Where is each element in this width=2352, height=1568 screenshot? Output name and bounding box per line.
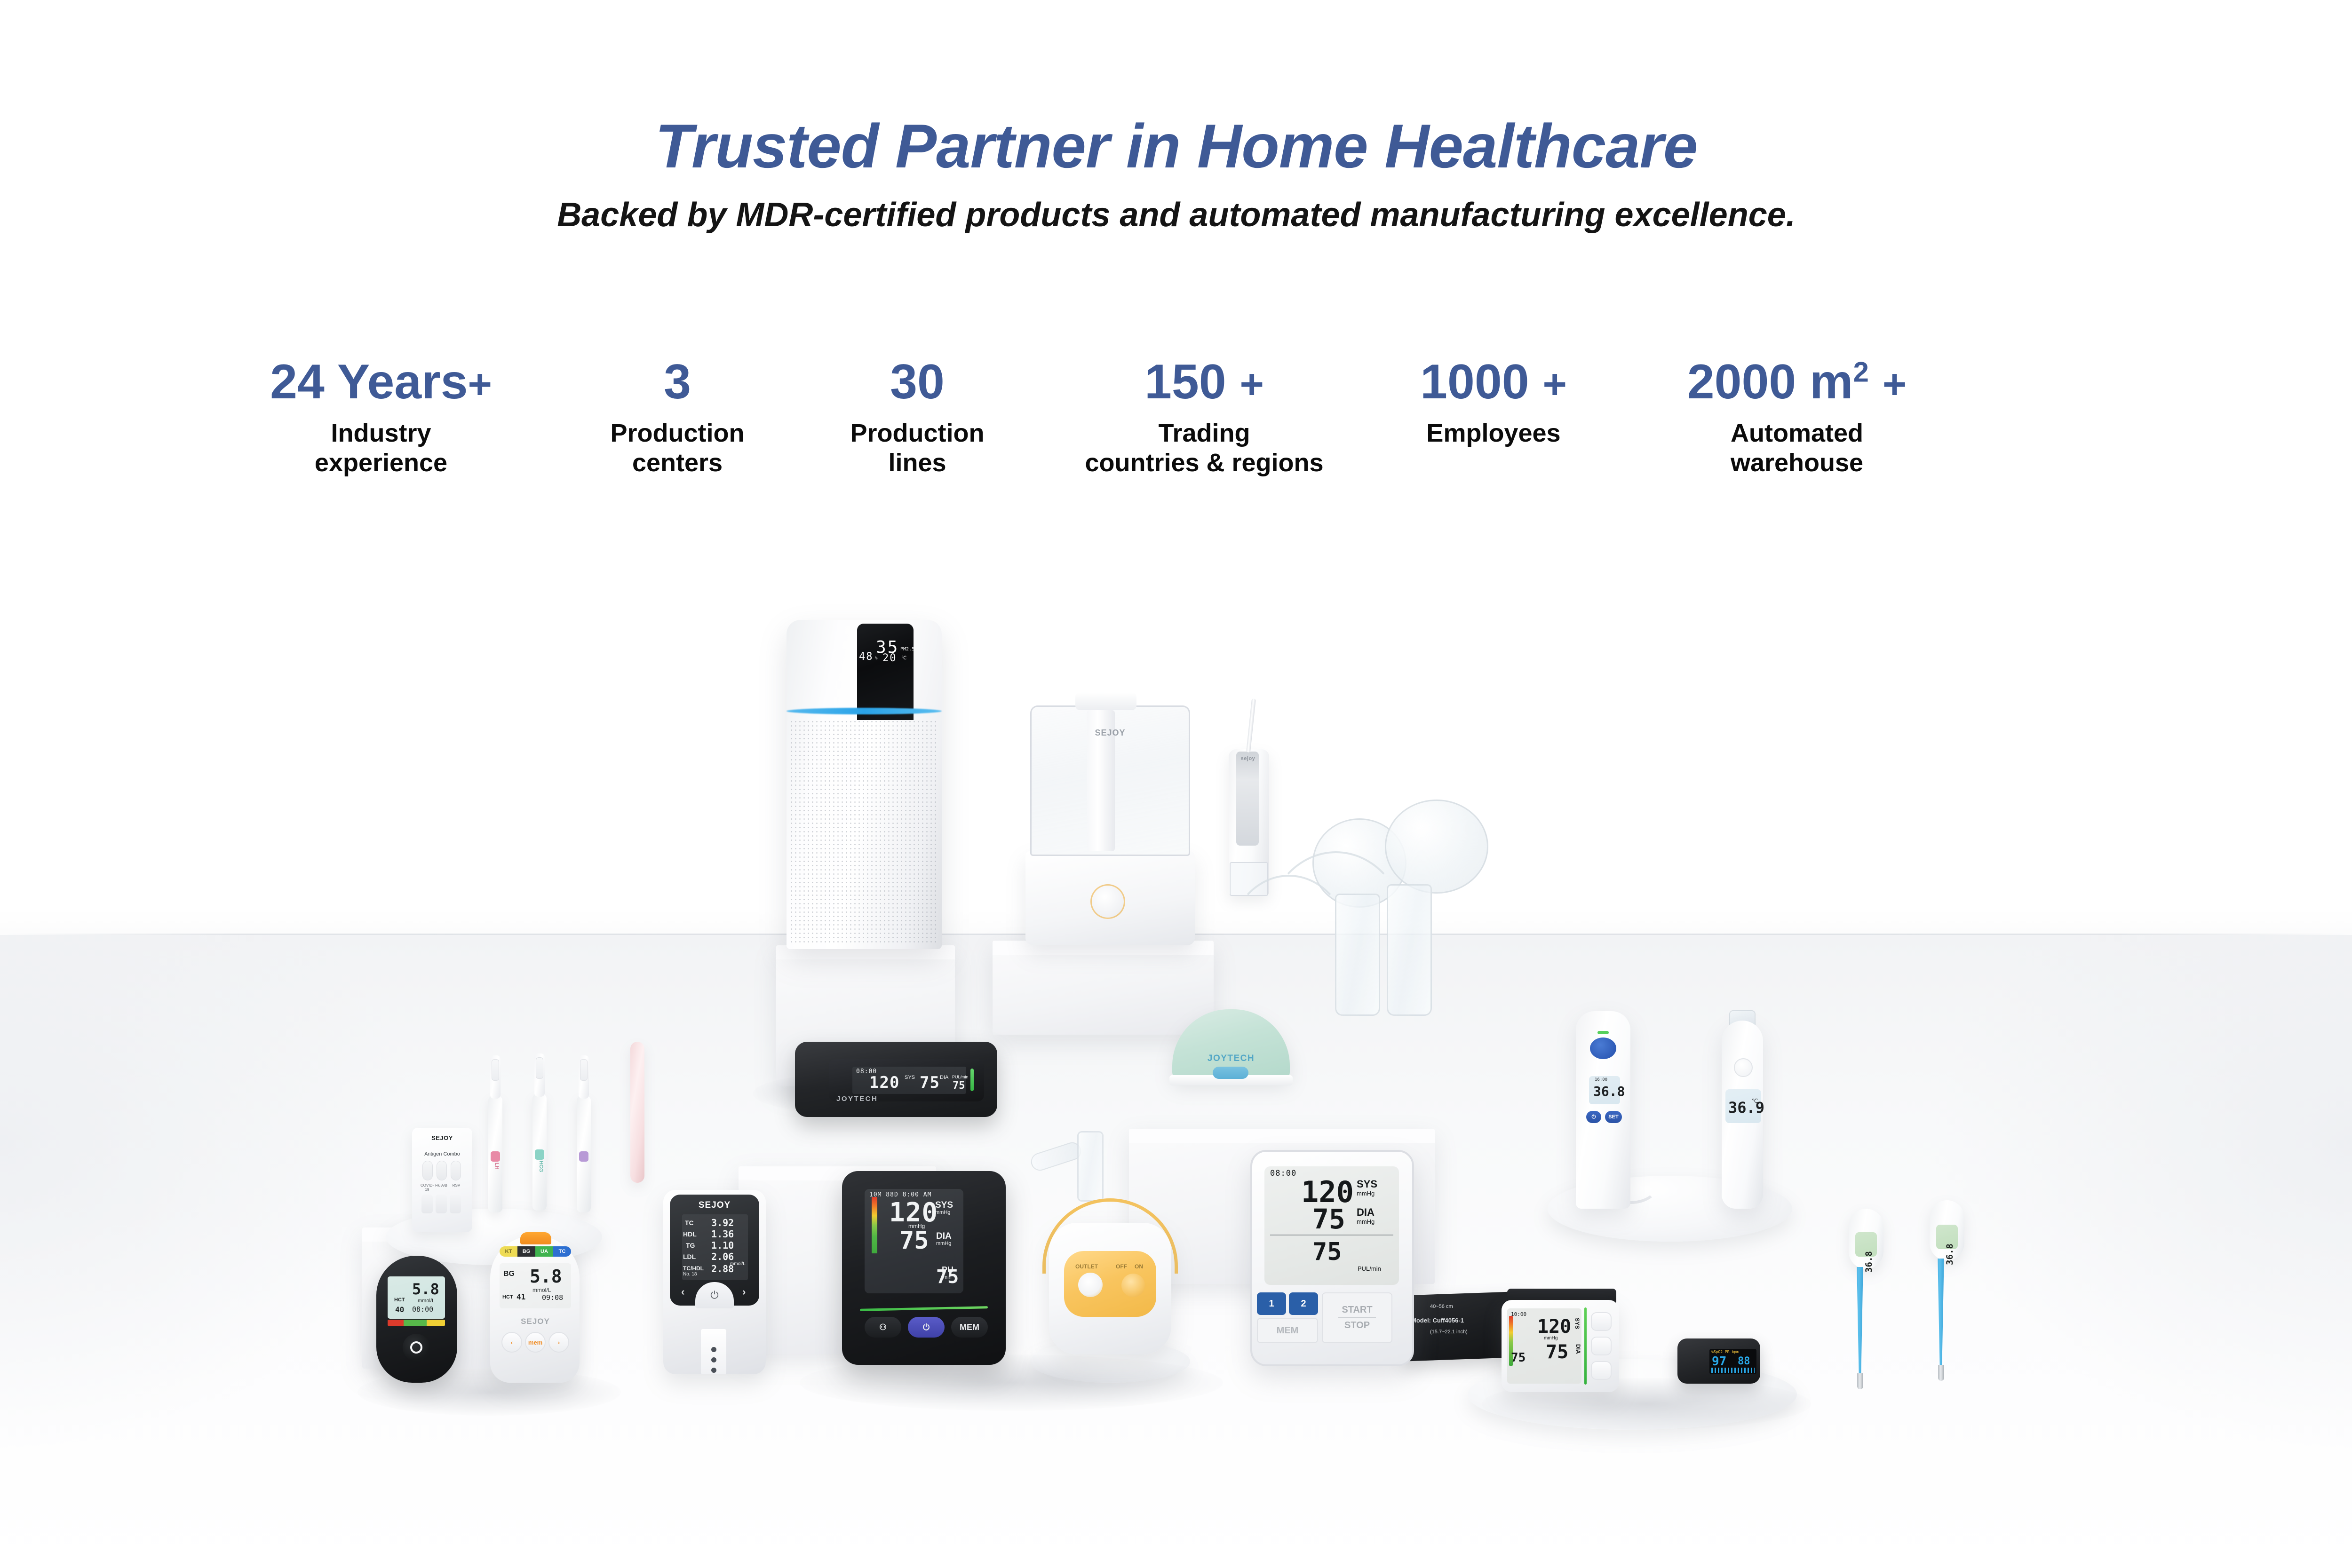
breast-pump-brand-label: JOYTECH [1182, 1053, 1280, 1064]
wrist-bp-pulse-value: 75 [1511, 1351, 1526, 1365]
arm-bp-large-sys-unit: mmHg [935, 1210, 950, 1215]
ear-thermometer-time: 16:00 [1595, 1077, 1607, 1082]
mode-tab-ua[interactable]: UA [535, 1246, 553, 1257]
stick-thermometer-probe-tip [1938, 1365, 1944, 1381]
air-purifier-temperature-unit: ℃ [901, 656, 906, 661]
antigen-test-target-3: RSV [448, 1183, 465, 1188]
arm-bp-large-power-button[interactable]: ⏻ [908, 1317, 945, 1338]
arm-bp-white-sys-label: SYS [1357, 1178, 1377, 1190]
pulse-oximeter-pr-value: 88 [1738, 1355, 1750, 1367]
stick-thermometer-probe-tip [1857, 1373, 1863, 1389]
arm-bp-large-pulse-unit: /min [942, 1275, 952, 1280]
wrist-bp-accent-stripe [1584, 1307, 1587, 1385]
water-flosser-nozzle-tip [1246, 698, 1256, 752]
cholesterol-contact-dot-1 [711, 1347, 716, 1352]
nebulizer-medication-cup [1077, 1131, 1104, 1202]
arm-bp-white-start-stop-button[interactable]: START STOP [1322, 1292, 1392, 1343]
ear-thermometer-measure-button[interactable] [1590, 1037, 1616, 1059]
arm-bp-white-cuff-model: Model: Cuff4056-1 [1411, 1317, 1464, 1324]
glucose-meter-black-port-ring [410, 1341, 422, 1354]
start-label: START [1342, 1305, 1372, 1315]
cholesterol-row-label-tg: TG [686, 1242, 695, 1249]
arm-bp-slim-sys-label: SYS [905, 1075, 915, 1080]
glucose-meter-white-unit: mmol/L [532, 1287, 551, 1293]
antigen-test-brand-label: SEJOY [412, 1134, 472, 1141]
glucose-meter-black-hct-label: HCT [394, 1297, 405, 1303]
test-stick-result-window [580, 1059, 588, 1081]
test-stick-color-pad [579, 1151, 588, 1162]
cholesterol-contact-dot-3 [711, 1368, 716, 1373]
test-stick-third[interactable] [577, 1096, 591, 1212]
test-stick-label: HCG [538, 1161, 544, 1172]
glucose-meter-black-range-bar [388, 1320, 445, 1326]
lancing-device[interactable] [630, 1042, 644, 1183]
air-purifier-temperature-value: 20 [882, 652, 897, 664]
wrist-bp-power-button[interactable] [1591, 1337, 1612, 1355]
arm-bp-large-pulse-label: PU [942, 1265, 954, 1275]
glucose-meter-white-left-button[interactable]: ‹ [501, 1332, 522, 1353]
start-stop-divider [1338, 1317, 1376, 1318]
wrist-bp-time: 10:00 [1511, 1311, 1526, 1317]
arm-bp-white-pulse-value: 75 [1312, 1238, 1342, 1266]
air-purifier-light-ring [787, 708, 942, 714]
wrist-bp-dia-label: DIA [1575, 1344, 1581, 1354]
arm-bp-slim-pulse-label: PUL/min [952, 1075, 969, 1079]
test-stick-result-window [536, 1057, 543, 1079]
wrist-bp-dia-value: 75 [1546, 1341, 1568, 1363]
glucose-meter-white[interactable] [490, 1236, 580, 1383]
wrist-bp-sys-value: 120 [1537, 1316, 1571, 1338]
humidifier-mist-outlet-cap[interactable] [1075, 692, 1136, 710]
arm-bp-white-display-divider [1270, 1235, 1393, 1235]
cholesterol-contact-dot-2 [711, 1357, 716, 1362]
forehead-thermometer-temperature: 36.9 [1728, 1099, 1764, 1117]
glucose-meter-white-hct-label: HCT [502, 1294, 513, 1300]
mode-tab-tc[interactable]: TC [553, 1246, 571, 1257]
arm-bp-white-sys-unit: mmHg [1357, 1190, 1375, 1197]
arm-bp-white-cuff-size-inch: (15.7~22.1 inch) [1430, 1329, 1468, 1335]
stick-thermometer-temperature: 36.8 [1864, 1251, 1874, 1273]
status-led-icon [1597, 1031, 1609, 1034]
arm-bp-white-dia-unit: mmHg [1357, 1218, 1375, 1225]
glucose-meter-white-mode-label: BG [503, 1270, 515, 1278]
antigen-test-target-2: Flu A/B [433, 1183, 450, 1188]
cholesterol-row-label-ldl: LDL [683, 1253, 696, 1260]
cholesterol-meter-brand-label: SEJOY [670, 1200, 759, 1211]
humidifier-control-dial[interactable] [1090, 884, 1125, 919]
test-stick-lh[interactable]: LH [488, 1096, 502, 1212]
arm-bp-large-user-button[interactable]: ⚇ [865, 1317, 901, 1338]
arm-bp-white-dia-value: 75 [1312, 1203, 1345, 1235]
cholesterol-meter-next-button[interactable]: › [742, 1286, 746, 1298]
arm-bp-white-cuff-size: 40~56 cm [1430, 1304, 1453, 1309]
arm-bp-slim-dia-label: DIA [940, 1075, 948, 1080]
pulse-oximeter-spo2-value: 97 [1712, 1354, 1726, 1369]
nebulizer-power-switch[interactable] [1121, 1274, 1145, 1297]
antigen-test-window-3 [451, 1161, 461, 1180]
plinth-humidifier [993, 941, 1214, 1035]
breast-pump-power-button[interactable] [1213, 1067, 1248, 1079]
air-purifier-grille [789, 720, 939, 945]
arm-bp-white-user1-button[interactable]: 1 [1257, 1292, 1286, 1315]
breast-pump-tubing-right [1265, 851, 1406, 1011]
glucose-meter-white-time: 09:08 [542, 1293, 563, 1302]
test-stick-label: LH [494, 1163, 500, 1170]
cholesterol-meter-unit: mmol/L [730, 1261, 746, 1267]
arm-bp-white-mem-button[interactable]: MEM [1257, 1318, 1318, 1343]
glucose-meter-black-hct-value: 40 [395, 1305, 404, 1314]
stick-thermometer-shaft [1935, 1259, 1947, 1367]
nebulizer-air-outlet-port[interactable] [1078, 1273, 1103, 1297]
arm-bp-large-dia-label: DIA [936, 1231, 952, 1242]
ear-thermometer-set-button[interactable]: SET [1605, 1111, 1622, 1123]
stick-thermometer-shaft [1854, 1267, 1866, 1375]
glucose-meter-white-value: 5.8 [530, 1266, 562, 1287]
arm-bp-slim-status-bar [970, 1069, 974, 1091]
air-purifier-pm25-label: PM2.5 [900, 647, 914, 652]
antigen-test-sample-well-3[interactable] [450, 1195, 461, 1213]
cholesterol-meter-record-no: No. 18 [683, 1272, 697, 1277]
arm-bp-white-time: 08:00 [1270, 1169, 1296, 1178]
glucose-meter-white-brand-label: SEJOY [500, 1317, 571, 1326]
nebulizer-on-label: ON [1135, 1263, 1143, 1270]
stop-label: STOP [1344, 1320, 1370, 1331]
ear-thermometer-temperature: 36.8 [1593, 1084, 1625, 1099]
plinth-top-face [1129, 1129, 1435, 1143]
wrist-bp-sys-label: SYS [1574, 1318, 1581, 1329]
antigen-test-window-1 [422, 1161, 433, 1180]
arm-bp-large-risk-scale [872, 1197, 877, 1253]
water-flosser-brand-label: sejoy [1233, 756, 1263, 761]
glucose-meter-black[interactable] [376, 1256, 457, 1383]
antigen-test-sample-well-1[interactable] [421, 1195, 433, 1213]
nebulizer-mouthpiece [1029, 1140, 1083, 1173]
arm-bp-slim-dia-value: 75 [920, 1073, 940, 1092]
stick-thermometer-temperature: 36.8 [1945, 1243, 1955, 1265]
breast-pump-flange-right [1385, 800, 1488, 894]
glucose-meter-white-strip-cap[interactable] [520, 1232, 551, 1244]
glucose-meter-white-mode-tabs[interactable]: KT BG UA TC [500, 1246, 571, 1257]
glucose-meter-black-unit: mmol/L [418, 1298, 435, 1304]
cholesterol-row-label-hdl: HDL [683, 1230, 697, 1238]
forehead-thermometer-unit: ℃ [1752, 1098, 1758, 1104]
test-stick-result-window [492, 1059, 499, 1081]
cholesterol-meter-prev-button[interactable]: ‹ [681, 1286, 684, 1298]
water-flosser-control-panel[interactable] [1236, 752, 1259, 846]
nebulizer-outlet-label: OUTLET [1075, 1263, 1098, 1270]
wrist-bp-sys-unit: mmHg [1544, 1336, 1557, 1341]
antigen-test-sample-well-2[interactable] [436, 1195, 447, 1213]
arm-bp-slim-brand-label: JOYTECH [836, 1095, 878, 1103]
ear-thermometer-power-button[interactable]: ⏻ [1586, 1111, 1601, 1123]
humidifier-brand-label: SEJOY [1082, 728, 1138, 738]
cholesterol-row-value-ldl: 2.06 [711, 1251, 734, 1262]
arm-bp-white-dia-label: DIA [1357, 1206, 1375, 1219]
pulse-oximeter-waveform [1711, 1368, 1755, 1373]
antigen-test-window-2 [437, 1161, 447, 1180]
air-purifier-humidity-value: 48 [859, 651, 874, 663]
glucose-meter-white-mem-button[interactable]: mem [525, 1332, 546, 1353]
arm-bp-slim-pulse-value: 75 [953, 1080, 965, 1092]
forehead-thermometer-measure-button[interactable] [1734, 1058, 1753, 1077]
glucose-meter-black-time: 08:00 [412, 1305, 433, 1314]
cholesterol-row-label-tc: TC [685, 1219, 694, 1227]
arm-bp-slim-sys-value: 120 [869, 1073, 899, 1092]
test-stick-hcg[interactable]: HCG [532, 1094, 547, 1211]
cholesterol-row-value-hdl: 1.36 [711, 1228, 734, 1240]
arm-bp-large-sys-label: SYS [935, 1200, 953, 1211]
antigen-test-title: Antigen Combo [412, 1151, 472, 1157]
glucose-meter-black-value: 5.8 [412, 1280, 439, 1298]
glucose-meter-white-hct-value: 41 [516, 1292, 525, 1301]
mode-tab-bg[interactable]: BG [517, 1246, 535, 1257]
cholesterol-row-value-tc: 3.92 [711, 1217, 734, 1228]
arm-bp-large-mem-button[interactable]: MEM [951, 1317, 988, 1338]
arm-bp-white-user2-button[interactable]: 2 [1289, 1292, 1318, 1315]
arm-bp-large-dia-value: 75 [899, 1227, 929, 1255]
wrist-bp-edit-button[interactable] [1591, 1312, 1612, 1331]
pulse-oximeter-header: %SpO2 PR bpm [1711, 1350, 1739, 1354]
air-purifier-humidity-unit: % [875, 656, 877, 661]
test-stick-color-pad [491, 1151, 500, 1162]
arm-bp-large-dia-unit: mmHg [936, 1241, 951, 1246]
arm-bp-white-pulse-label: PUL/min [1358, 1265, 1381, 1272]
wrist-bp-alarm-button[interactable] [1591, 1361, 1612, 1380]
product-showcase: 35 PM2.5 48 % 20 ℃ SEJOY sejoy JOYTECH O… [0, 0, 2352, 1568]
glucose-meter-white-right-button[interactable]: › [548, 1332, 569, 1353]
mode-tab-kt[interactable]: KT [500, 1246, 517, 1257]
cholesterol-row-label-ratio: TC/HDL [683, 1265, 704, 1272]
nebulizer-off-label: OFF [1116, 1263, 1127, 1270]
cholesterol-row-value-tg: 1.10 [711, 1240, 734, 1251]
test-stick-color-pad [535, 1149, 544, 1160]
